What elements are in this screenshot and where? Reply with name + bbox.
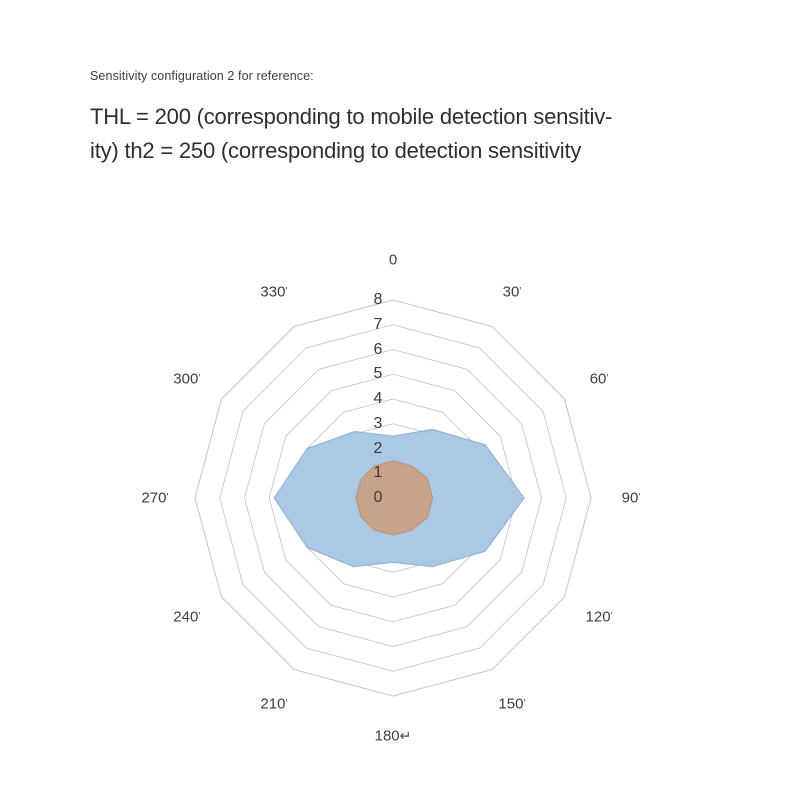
degree-tick-icon: ': [285, 698, 287, 710]
caption-text: Sensitivity configuration 2 for referenc…: [90, 68, 314, 84]
radial-tick-3: 3: [374, 415, 383, 433]
radial-tick-6: 6: [374, 341, 383, 359]
degree-tick-icon: ': [611, 611, 613, 623]
chart-canvas: [150, 250, 650, 760]
angle-tick-210: 210': [260, 696, 287, 713]
paragraph-line-2: ity) th2 = 250 (corresponding to detecti…: [90, 134, 705, 168]
angle-tick-180: 180↵: [375, 728, 412, 745]
angle-tick-0: 0: [389, 252, 397, 269]
angle-tick-30: 30': [503, 283, 522, 300]
degree-tick-icon: ': [523, 698, 525, 710]
angle-tick-150: 150': [498, 696, 525, 713]
angle-tick-330: 330': [260, 283, 287, 300]
angle-tick-120: 120': [586, 609, 613, 626]
radial-tick-2: 2: [374, 440, 383, 458]
page-root: Sensitivity configuration 2 for referenc…: [0, 0, 800, 800]
degree-tick-icon: ': [638, 492, 640, 504]
degree-tick-icon: ': [198, 611, 200, 623]
angle-tick-270: 270': [141, 490, 168, 507]
radial-tick-5: 5: [374, 365, 383, 383]
degree-tick-icon: ': [285, 285, 287, 297]
angle-tick-60: 60': [590, 371, 609, 388]
angle-tick-240: 240': [173, 609, 200, 626]
body-paragraph: THL = 200 (corresponding to mobile detec…: [90, 100, 705, 168]
radial-tick-7: 7: [374, 316, 383, 334]
degree-tick-icon: ': [166, 492, 168, 504]
degree-tick-icon: ': [519, 285, 521, 297]
series-layer: [274, 429, 524, 566]
angle-tick-300: 300': [173, 371, 200, 388]
radial-tick-8: 8: [374, 291, 383, 309]
degree-tick-icon: ': [198, 373, 200, 385]
radial-tick-1: 1: [374, 464, 383, 482]
paragraph-line-1: THL = 200 (corresponding to mobile detec…: [90, 100, 705, 134]
polar-radar-chart: 030'60'90'120'150'180↵210'240'270'300'33…: [150, 250, 650, 760]
degree-tick-icon: ': [606, 373, 608, 385]
angle-tick-90: 90': [622, 490, 641, 507]
radial-tick-4: 4: [374, 390, 383, 408]
radial-tick-0: 0: [374, 489, 383, 507]
carriage-return-icon: ↵: [400, 728, 412, 744]
